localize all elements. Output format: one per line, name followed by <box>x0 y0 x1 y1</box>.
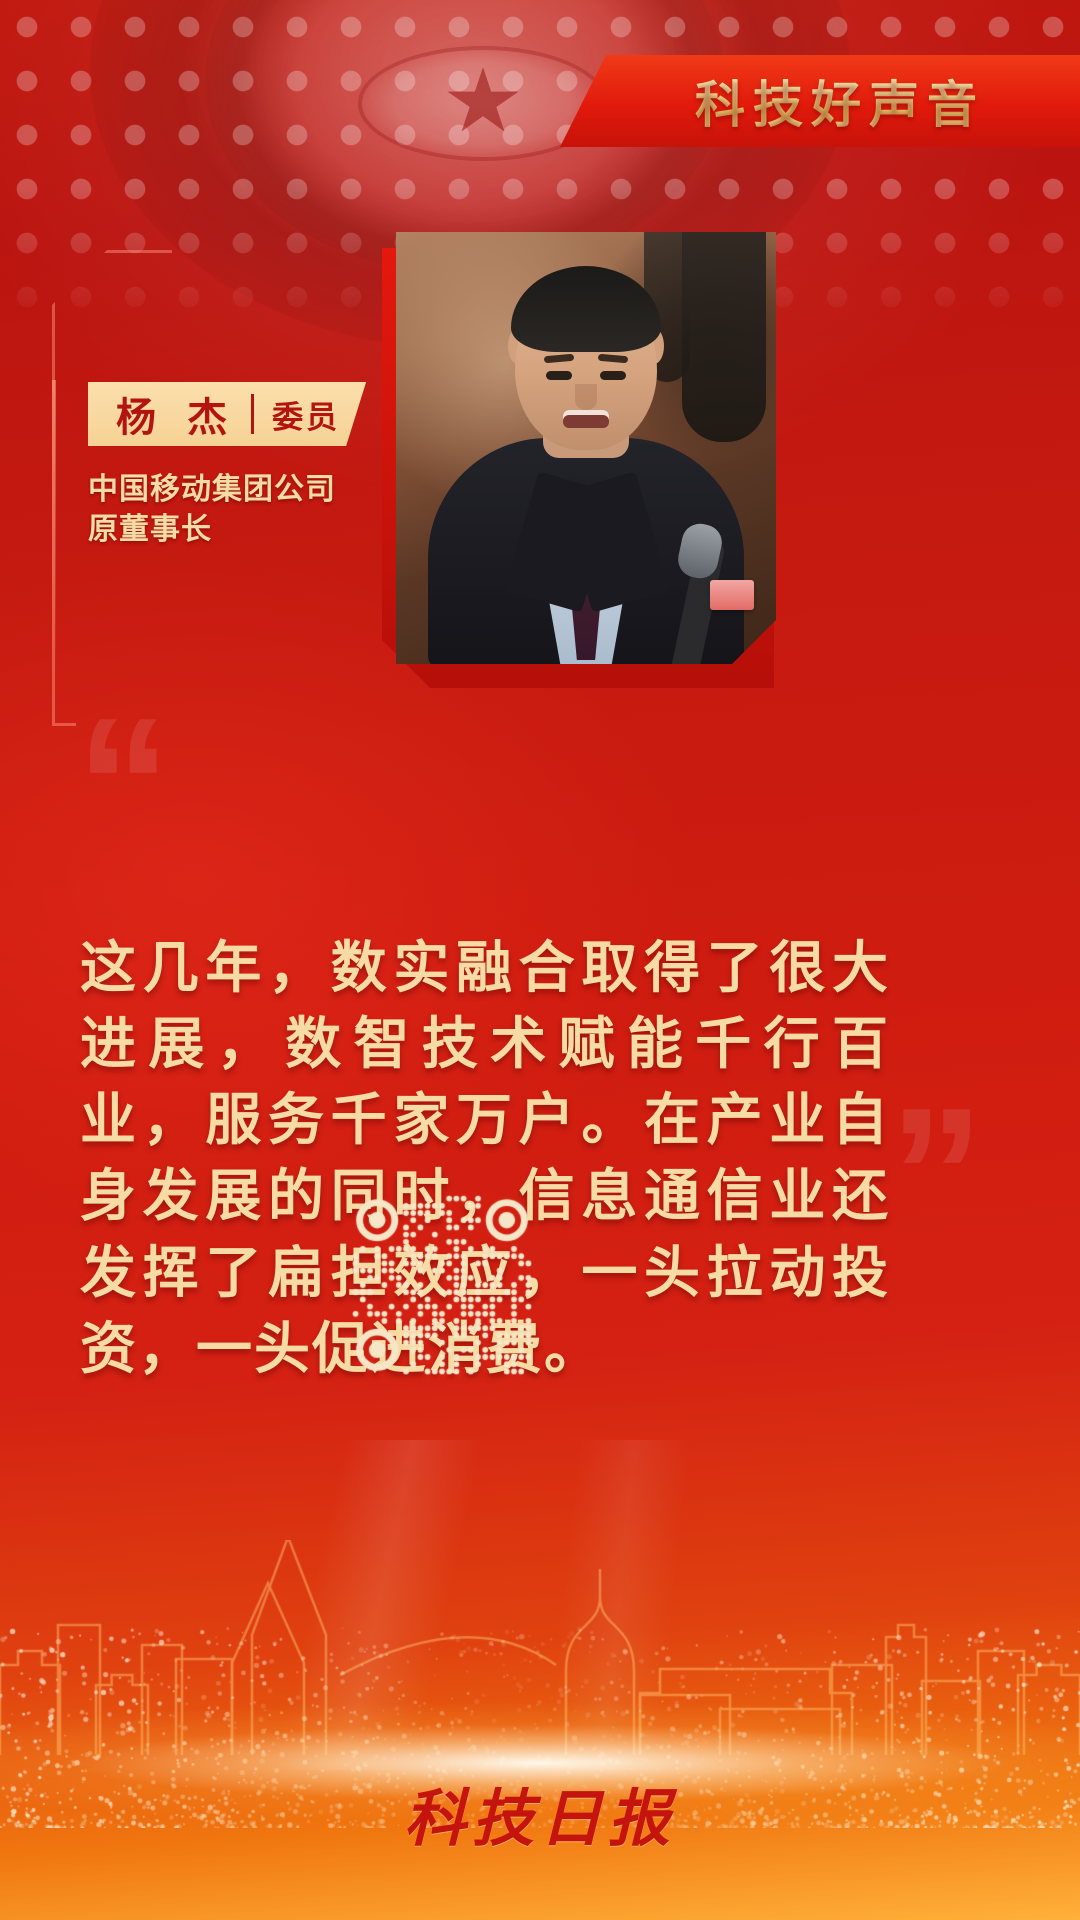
organization-line-1: 中国移动集团公司 <box>88 470 508 510</box>
speaker-organization: 中国移动集团公司 原董事长 <box>88 470 508 549</box>
speaker-nameplate: 杨 杰 委员 <box>88 382 366 446</box>
speaker-role: 委员 <box>272 392 340 437</box>
speaker-portrait <box>396 232 776 664</box>
qr-code[interactable] <box>352 1195 532 1375</box>
portrait-eye-left <box>546 371 572 380</box>
qr-code-canvas[interactable] <box>352 1195 532 1375</box>
publisher-logo: 科技日报 <box>0 1768 1080 1858</box>
poster-root: 科技好声音 杨 杰 委员 中国移动集团公司 原董事长 <box>0 0 1080 1920</box>
header-banner-title: 科技好声音 <box>560 55 1080 147</box>
organization-line-2: 原董事长 <box>88 510 508 550</box>
decorative-bracket-line <box>52 380 56 680</box>
nameplate-divider <box>251 394 254 434</box>
portrait-nose <box>575 384 597 410</box>
portrait-mouth <box>563 410 609 428</box>
quote-open-mark: “ <box>76 690 171 880</box>
quote-close-mark: ” <box>889 1080 984 1270</box>
portrait-background-figure <box>682 232 766 442</box>
delegate-badge <box>710 580 754 610</box>
portrait-eye-right <box>600 371 626 380</box>
speaker-name: 杨 杰 <box>116 385 237 443</box>
